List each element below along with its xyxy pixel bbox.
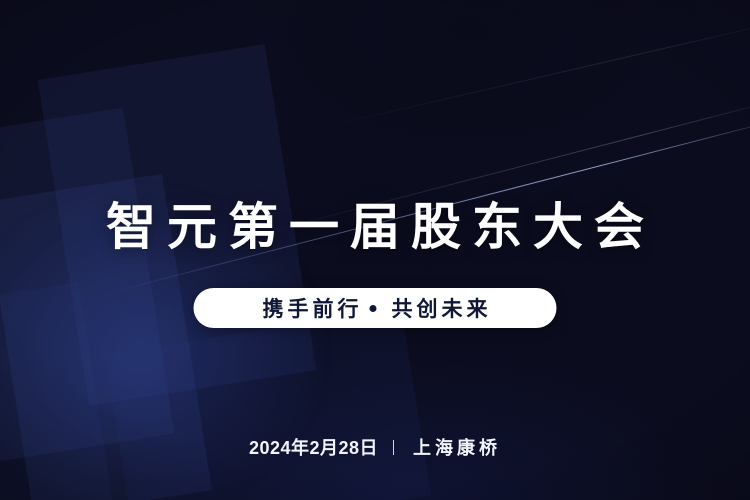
bullet-dot-icon (370, 305, 377, 312)
slogan-right: 共创未来 (388, 293, 492, 323)
slogan-left: 携手前行 (259, 293, 363, 323)
slogan-text: 携手前行 共创未来 (259, 293, 492, 323)
footer-separator (393, 440, 394, 455)
event-location: 上海康桥 (409, 434, 501, 460)
poster-content: 智元第一届股东大会 携手前行 共创未来 2024年2月28日 上海康桥 (0, 0, 750, 500)
event-poster: 智元第一届股东大会 携手前行 共创未来 2024年2月28日 上海康桥 (0, 0, 750, 500)
event-date: 2024年2月28日 (249, 434, 378, 460)
slogan-pill: 携手前行 共创未来 (194, 288, 557, 328)
poster-title: 智元第一届股东大会 (0, 196, 750, 258)
poster-footer: 2024年2月28日 上海康桥 (0, 434, 750, 460)
